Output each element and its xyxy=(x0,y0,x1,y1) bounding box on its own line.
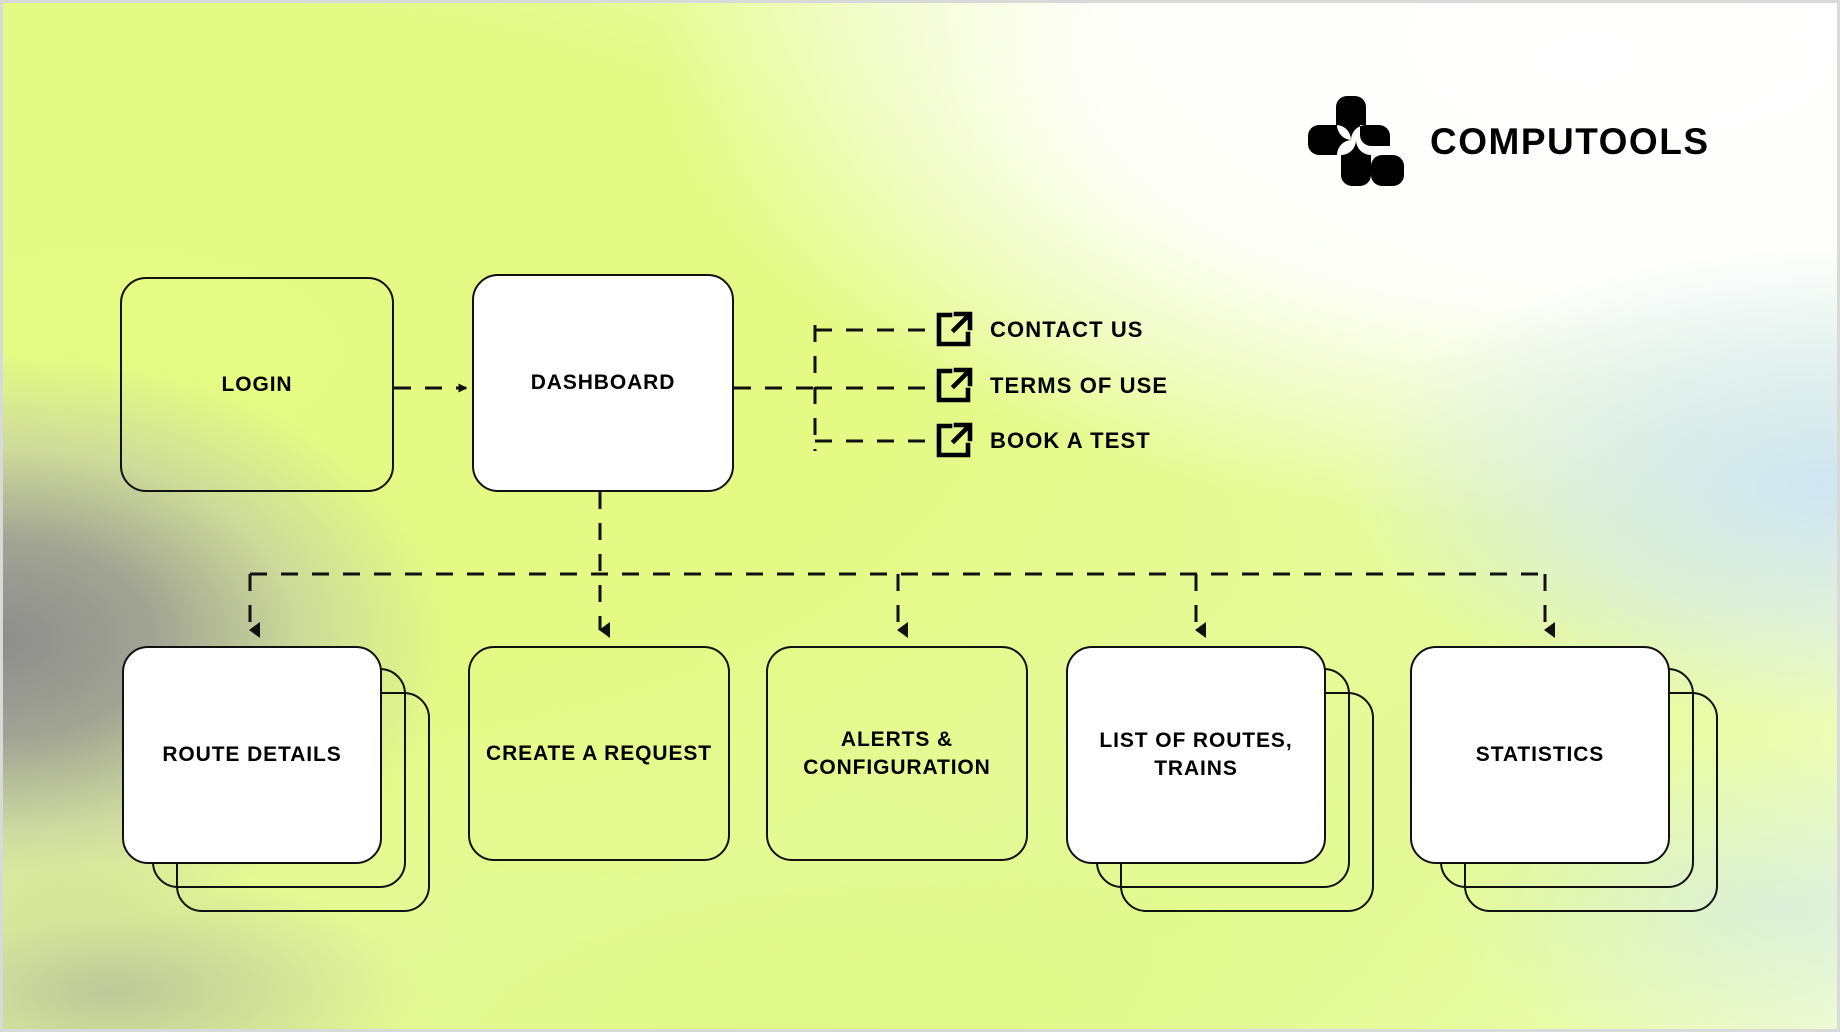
node-create-a-request-label: CREATE A REQUEST xyxy=(472,740,726,768)
computools-blocks-logo-icon xyxy=(1308,96,1404,186)
node-dashboard[interactable]: DASHBOARD xyxy=(472,274,734,492)
node-list-of-routes-trains-label: LIST OF ROUTES, TRAINS xyxy=(1068,727,1324,782)
node-login-label: LOGIN xyxy=(208,371,307,399)
external-link-book-a-test[interactable]: BOOK A TEST xyxy=(934,421,1151,461)
node-route-details[interactable]: ROUTE DETAILS xyxy=(122,646,382,864)
node-login[interactable]: LOGIN xyxy=(120,277,394,492)
external-link-contact-us-label: CONTACT US xyxy=(990,317,1144,343)
node-create-a-request[interactable]: CREATE A REQUEST xyxy=(468,646,730,861)
external-link-icon xyxy=(934,310,974,350)
node-alerts-configuration-label: ALERTS & CONFIGURATION xyxy=(768,726,1026,781)
external-link-contact-us[interactable]: CONTACT US xyxy=(934,310,1144,350)
external-link-terms-of-use[interactable]: TERMS OF USE xyxy=(934,366,1168,406)
brand-name: COMPUTOOLS xyxy=(1430,123,1710,160)
brand-logo: COMPUTOOLS xyxy=(1308,96,1710,186)
diagram-canvas: COMPUTOOLS LOGIN xyxy=(0,0,1840,1032)
external-link-icon xyxy=(934,366,974,406)
external-link-book-a-test-label: BOOK A TEST xyxy=(990,428,1151,454)
node-statistics-label: STATISTICS xyxy=(1462,741,1618,769)
node-list-of-routes-trains[interactable]: LIST OF ROUTES, TRAINS xyxy=(1066,646,1326,864)
node-dashboard-label: DASHBOARD xyxy=(517,369,690,397)
external-link-icon xyxy=(934,421,974,461)
node-alerts-configuration[interactable]: ALERTS & CONFIGURATION xyxy=(766,646,1028,861)
node-statistics[interactable]: STATISTICS xyxy=(1410,646,1670,864)
node-route-details-label: ROUTE DETAILS xyxy=(148,741,355,769)
external-link-terms-of-use-label: TERMS OF USE xyxy=(990,373,1168,399)
